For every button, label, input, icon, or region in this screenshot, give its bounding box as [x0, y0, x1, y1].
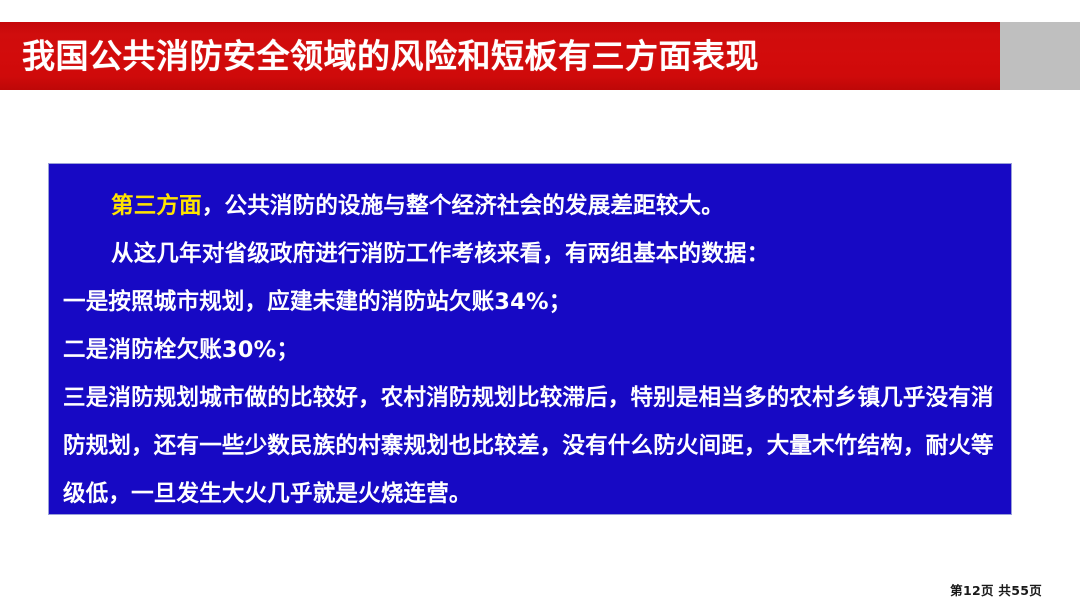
paragraph-3: 一是按照城市规划，应建未建的消防站欠账34%； [63, 278, 997, 326]
paragraph-4: 二是消防栓欠账30%； [63, 326, 997, 374]
slide-canvas: 我国公共消防安全领域的风险和短板有三方面表现 第三方面，公共消防的设施与整个经济… [0, 0, 1080, 608]
paragraph-1: 第三方面，公共消防的设施与整个经济社会的发展差距较大。 [63, 182, 997, 230]
content-panel: 第三方面，公共消防的设施与整个经济社会的发展差距较大。 从这几年对省级政府进行消… [48, 163, 1012, 515]
paragraph-2: 从这几年对省级政府进行消防工作考核来看，有两组基本的数据： [63, 230, 997, 278]
slide-title: 我国公共消防安全领域的风险和短板有三方面表现 [22, 40, 759, 73]
paragraph-1-highlight: 第三方面 [111, 193, 202, 219]
paragraph-1-rest: ，公共消防的设施与整个经济社会的发展差距较大。 [202, 193, 724, 219]
paragraph-5: 三是消防规划城市做的比较好，农村消防规划比较滞后，特别是相当多的农村乡镇几乎没有… [63, 374, 997, 518]
slide-header-band: 我国公共消防安全领域的风险和短板有三方面表现 [0, 22, 1080, 90]
page-number-footer: 第12页 共55页 [950, 580, 1042, 599]
